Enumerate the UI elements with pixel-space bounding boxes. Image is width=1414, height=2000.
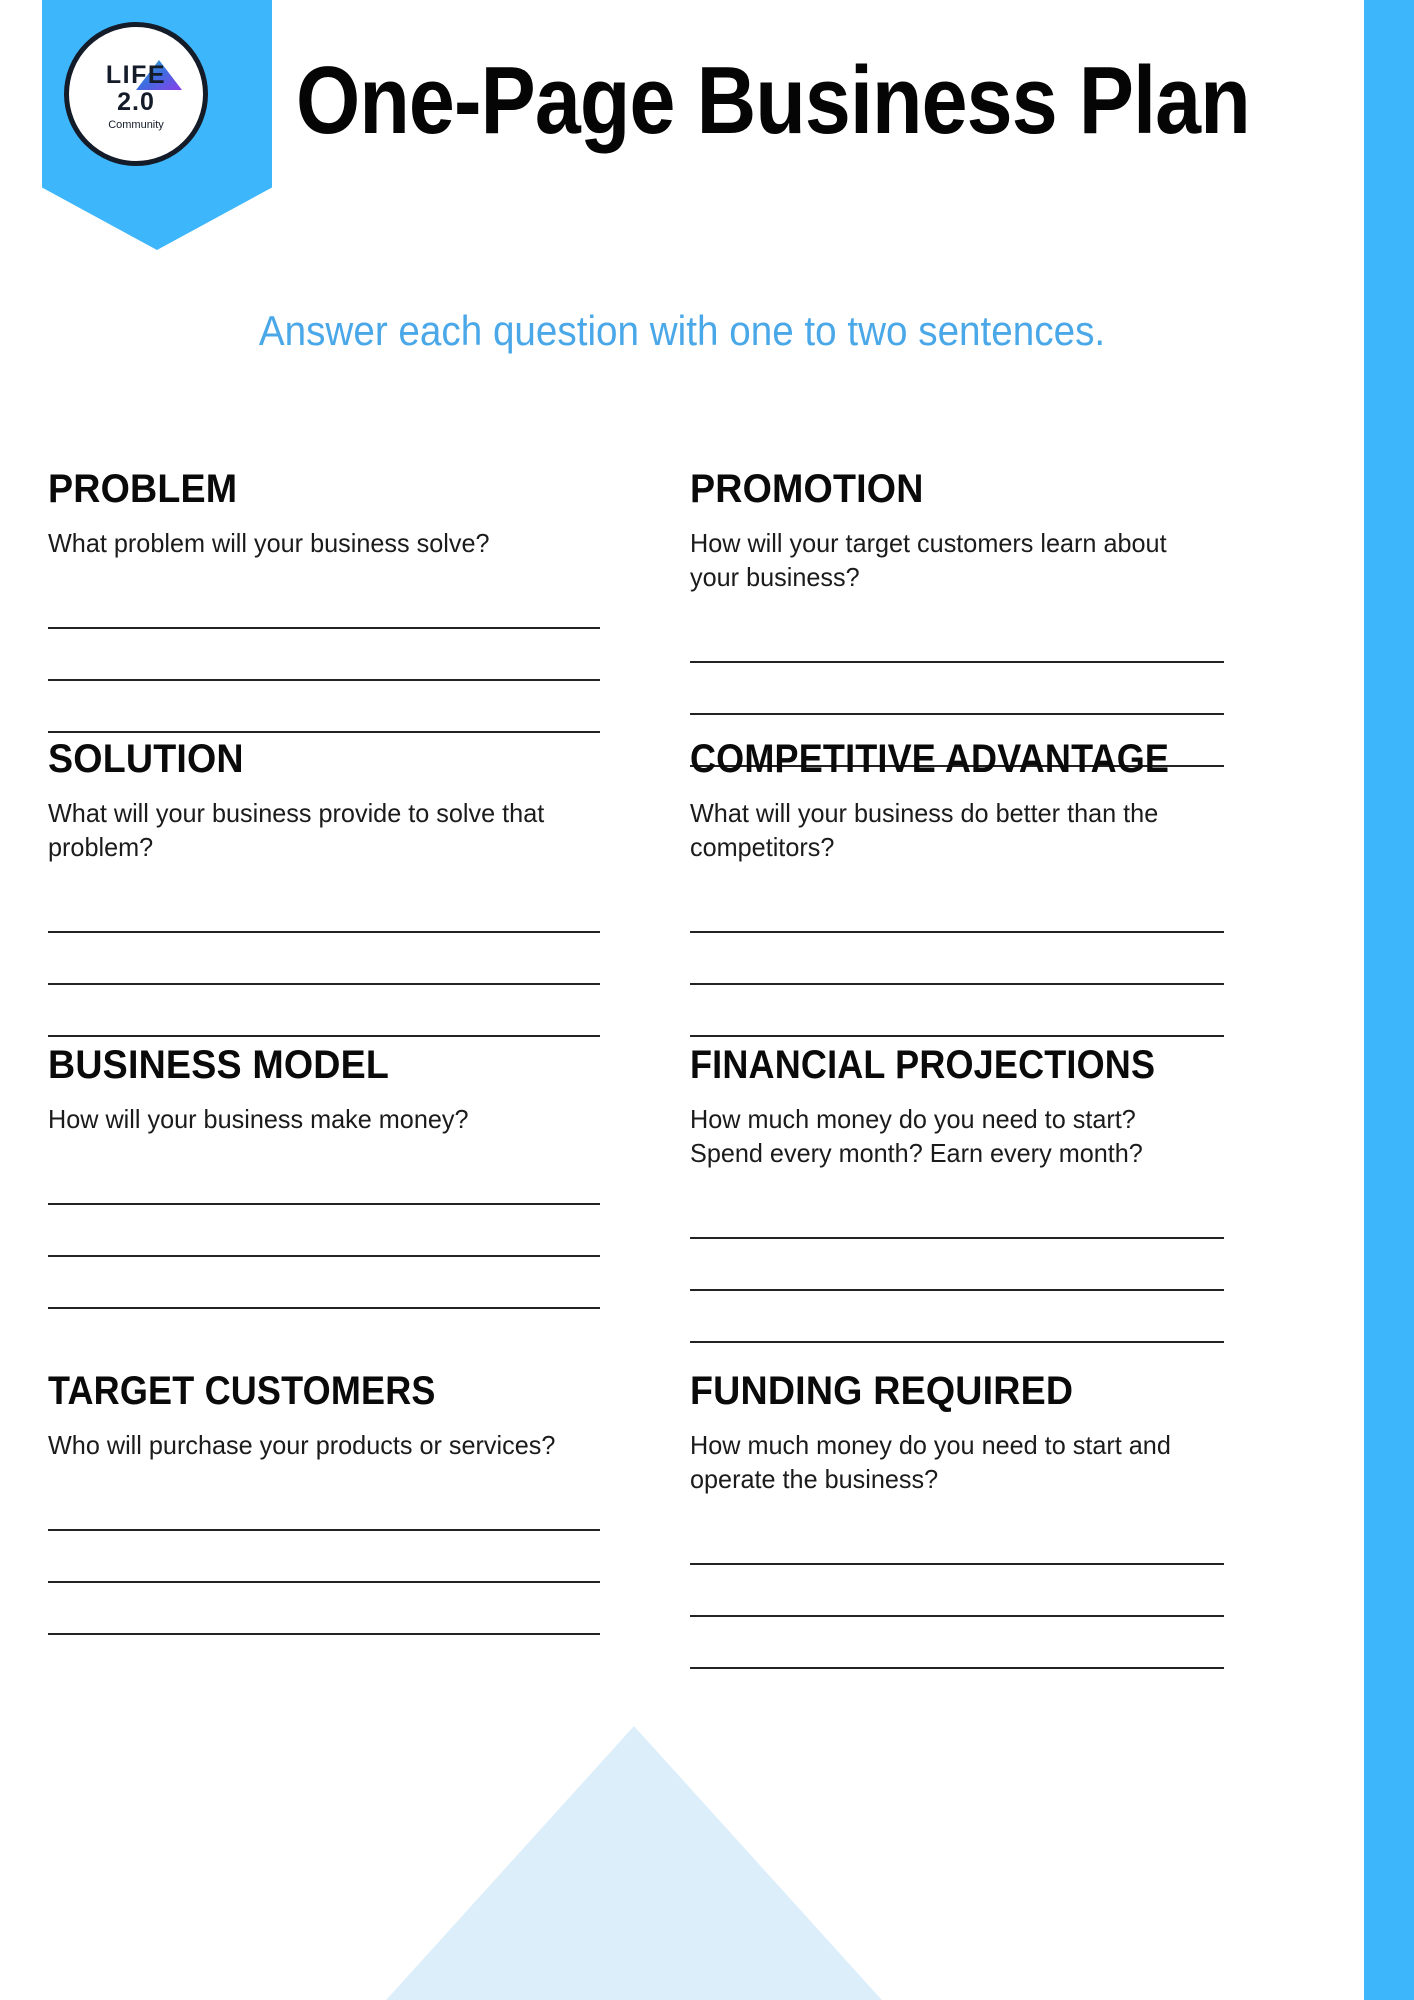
answer-line[interactable] (48, 681, 600, 733)
section-target-customers: TARGET CUSTOMERSWho will purchase your p… (48, 1370, 600, 1635)
answer-line[interactable] (48, 887, 600, 933)
answer-lines-competitive-advantage (690, 887, 1224, 1037)
section-heading-financial-projections: FINANCIAL PROJECTIONS (690, 1044, 1171, 1086)
answer-lines-funding-required (690, 1519, 1224, 1669)
answer-line[interactable] (690, 985, 1224, 1037)
sections-grid: PROBLEMWhat problem will your business s… (0, 0, 1364, 2000)
answer-line[interactable] (690, 1239, 1224, 1291)
brand-logo: LIFE 2.0 Community (64, 22, 208, 166)
section-promotion: PROMOTIONHow will your target customers … (690, 468, 1224, 767)
section-question-funding-required: How much money do you need to start and … (690, 1429, 1208, 1497)
answer-line[interactable] (690, 1519, 1224, 1565)
section-heading-promotion: PROMOTION (690, 468, 1192, 510)
answer-lines-financial-projections (690, 1193, 1224, 1343)
answer-line[interactable] (48, 985, 600, 1037)
section-question-financial-projections: How much money do you need to start? Spe… (690, 1103, 1208, 1171)
answer-lines-target-customers (48, 1485, 600, 1635)
section-solution: SOLUTIONWhat will your business provide … (48, 738, 600, 1037)
section-question-business-model: How will your business make money? (48, 1103, 583, 1137)
business-plan-worksheet: LIFE 2.0 Community One-Page Business Pla… (0, 0, 1414, 2000)
answer-line[interactable] (48, 1531, 600, 1583)
answer-lines-solution (48, 887, 600, 1037)
answer-line[interactable] (48, 933, 600, 985)
section-question-target-customers: Who will purchase your products or servi… (48, 1429, 583, 1463)
section-heading-funding-required: FUNDING REQUIRED (690, 1370, 1192, 1412)
answer-lines-problem (48, 583, 600, 733)
answer-line[interactable] (48, 583, 600, 629)
answer-line[interactable] (690, 663, 1224, 715)
section-heading-competitive-advantage: COMPETITIVE ADVANTAGE (690, 738, 1171, 780)
section-competitive-advantage: COMPETITIVE ADVANTAGEWhat will your busi… (690, 738, 1224, 1037)
section-question-solution: What will your business provide to solve… (48, 797, 583, 865)
section-financial-projections: FINANCIAL PROJECTIONSHow much money do y… (690, 1044, 1224, 1343)
section-problem: PROBLEMWhat problem will your business s… (48, 468, 600, 733)
answer-line[interactable] (690, 933, 1224, 985)
section-business-model: BUSINESS MODELHow will your business mak… (48, 1044, 600, 1309)
section-heading-problem: PROBLEM (48, 468, 567, 510)
section-heading-business-model: BUSINESS MODEL (48, 1044, 567, 1086)
answer-line[interactable] (690, 887, 1224, 933)
answer-line[interactable] (48, 629, 600, 681)
answer-line[interactable] (48, 1485, 600, 1531)
section-question-problem: What problem will your business solve? (48, 527, 583, 561)
answer-line[interactable] (690, 1617, 1224, 1669)
answer-line[interactable] (48, 1205, 600, 1257)
logo-text-life: LIFE (106, 63, 166, 88)
answer-line[interactable] (690, 1193, 1224, 1239)
section-heading-target-customers: TARGET CUSTOMERS (48, 1370, 545, 1412)
answer-line[interactable] (690, 617, 1224, 663)
answer-line[interactable] (48, 1159, 600, 1205)
logo-text-community: Community (108, 119, 164, 132)
answer-line[interactable] (48, 1257, 600, 1309)
page-title: One-Page Business Plan (296, 52, 1182, 150)
answer-lines-business-model (48, 1159, 600, 1309)
answer-line[interactable] (48, 1583, 600, 1635)
right-edge-blue-stripe (1364, 0, 1414, 2000)
answer-line[interactable] (690, 1565, 1224, 1617)
section-heading-solution: SOLUTION (48, 738, 567, 780)
section-question-competitive-advantage: What will your business do better than t… (690, 797, 1208, 865)
logo-text-version: 2.0 (117, 88, 155, 116)
answer-line[interactable] (690, 1291, 1224, 1343)
page-subtitle-instruction: Answer each question with one to two sen… (55, 307, 1310, 355)
section-question-promotion: How will your target customers learn abo… (690, 527, 1208, 595)
section-funding-required: FUNDING REQUIREDHow much money do you ne… (690, 1370, 1224, 1669)
